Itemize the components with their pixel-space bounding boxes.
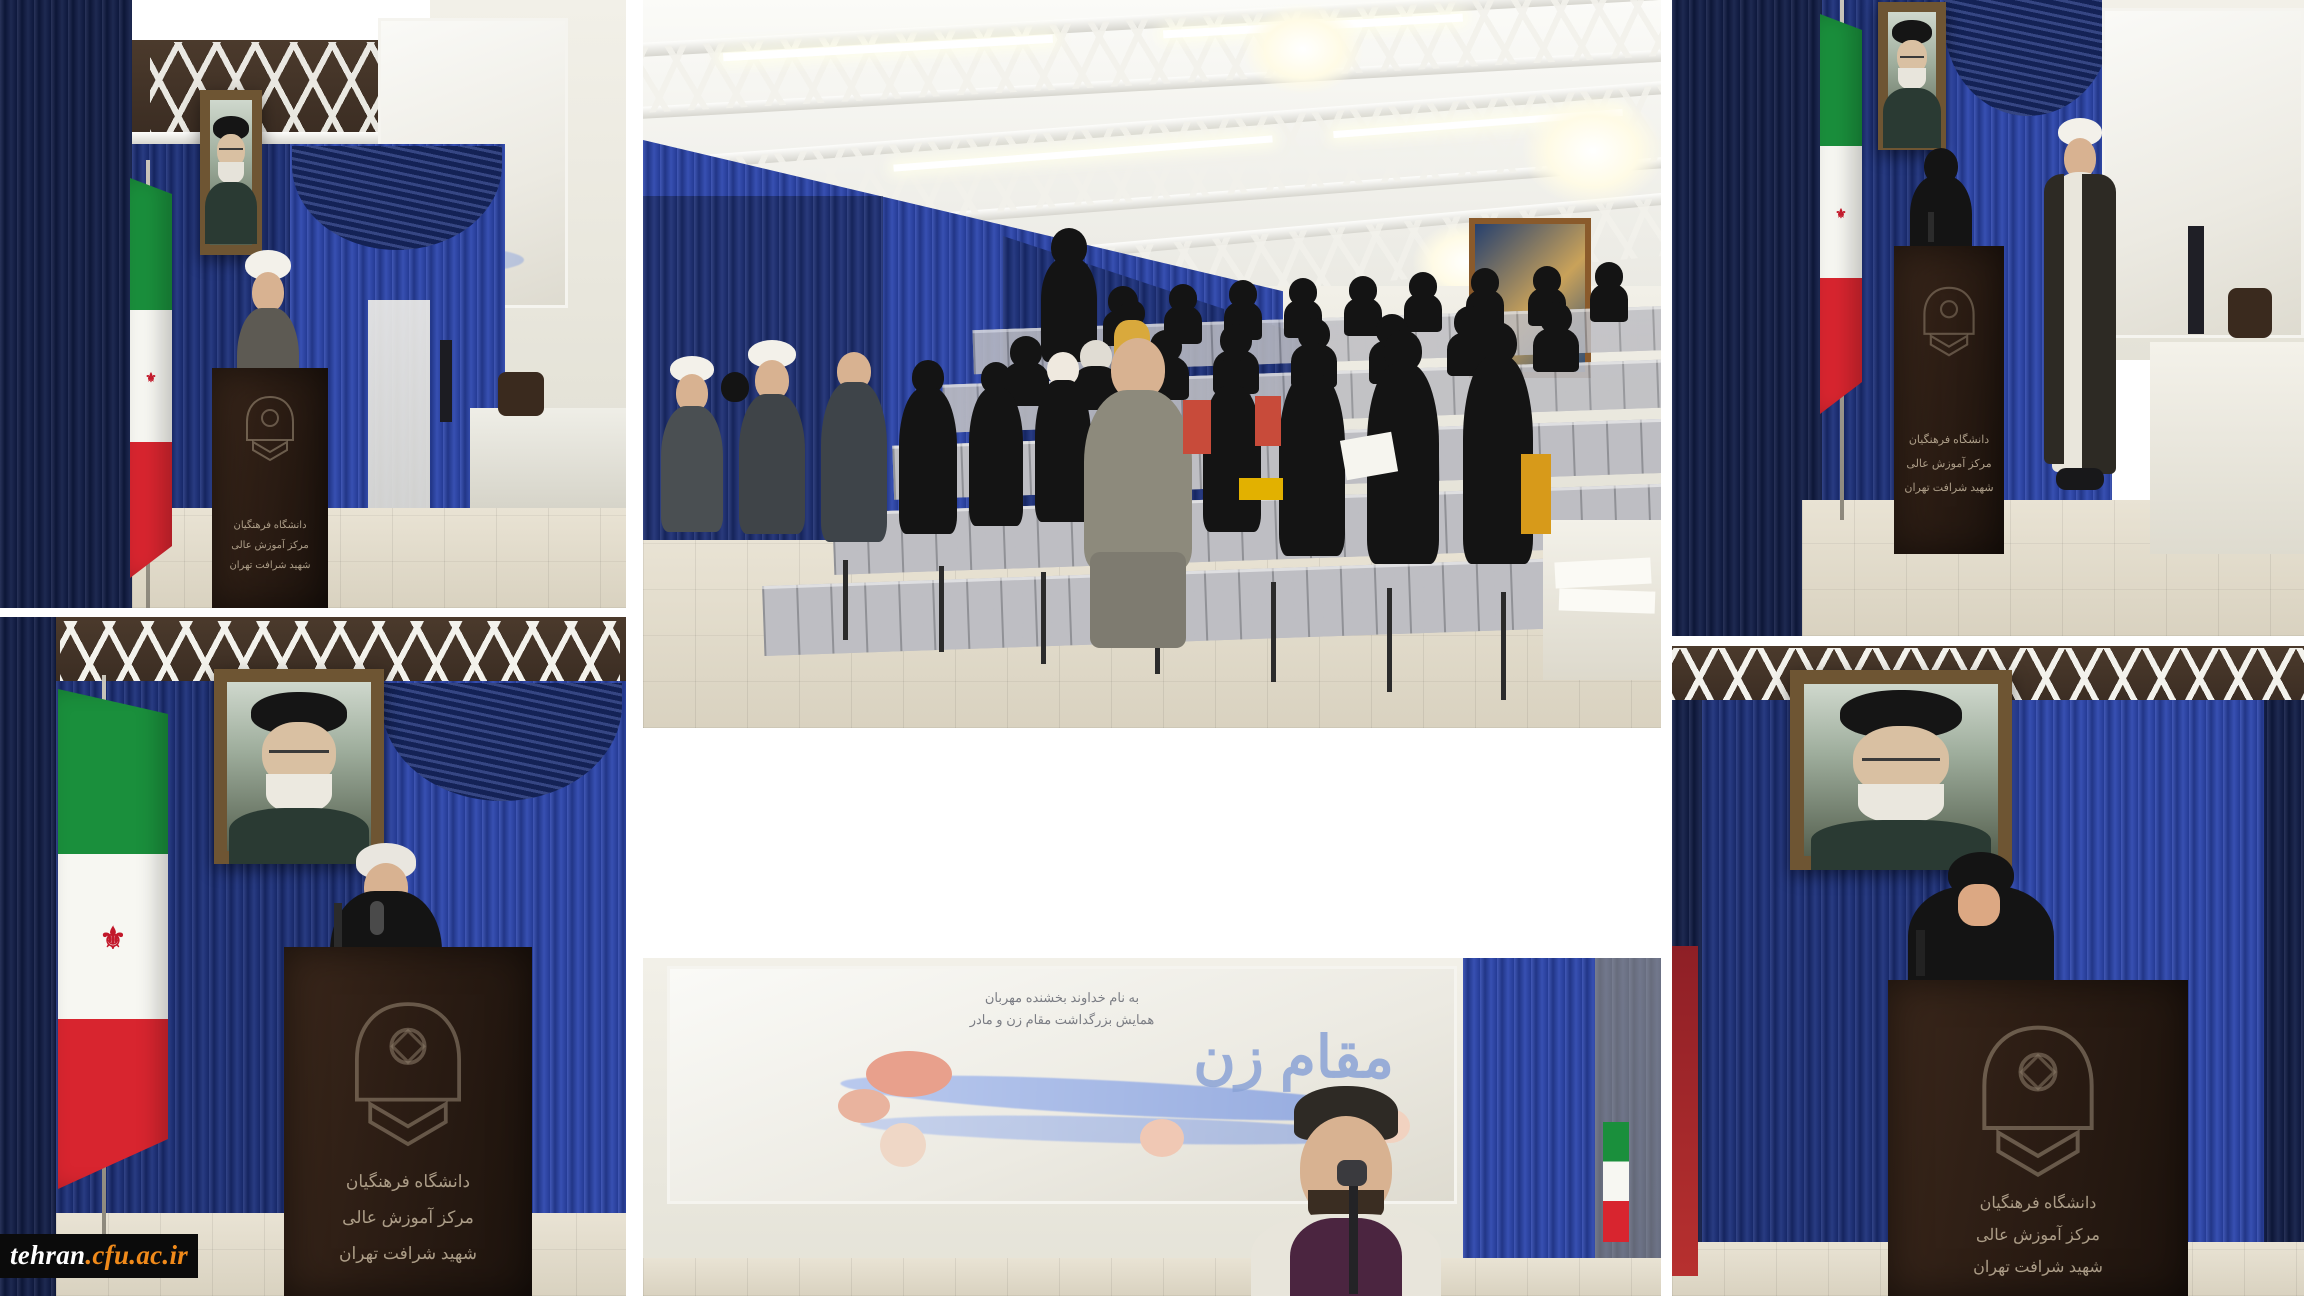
podium: دانشگاه فرهنگیان مرکز آموزش عالی شهید شر… [284, 947, 532, 1296]
site-watermark: tehran.cfu.ac.ir [0, 1234, 198, 1278]
watermark-domain: tehran [10, 1240, 85, 1270]
panel-male-speaker-slide[interactable]: به نام خداوند بخشنده مهربان همایش بزرگدا… [643, 958, 1661, 1296]
audience-man-front [1083, 338, 1193, 638]
university-seal-icon [1918, 282, 1980, 360]
podium-line-1: دانشگاه فرهنگیان [1980, 1192, 2097, 1216]
photo-male-speaker-slide: به نام خداوند بخشنده مهربان همایش بزرگدا… [643, 958, 1661, 1296]
panel-blank-white [643, 737, 1661, 949]
podium-line-1: دانشگاه فرهنگیان [233, 518, 306, 533]
university-seal-icon [1964, 1016, 2112, 1184]
podium-line-2: مرکز آموزش عالی [342, 1205, 474, 1231]
iran-flag: ⚜ [1820, 14, 1862, 414]
photo-cleric-at-podium: ⚜ د [0, 0, 626, 608]
audience-cleric [739, 340, 805, 528]
panel-woman-podium-cleric-standing[interactable]: ⚜ [1672, 0, 2304, 636]
panel-woman-podium-portrait[interactable]: دانشگاه فرهنگیان مرکز آموزش عالی شهید شر… [1672, 646, 2304, 1296]
podium-line-2: مرکز آموزش عالی [1976, 1224, 2100, 1248]
podium-line-2: مرکز آموزش عالی [231, 538, 308, 553]
framed-portrait-of-leader [1878, 2, 1946, 150]
podium-line-1: دانشگاه فرهنگیان [346, 1169, 470, 1195]
podium-line-3: شهید شرافت تهران [339, 1241, 477, 1267]
podium-line-3: شهید شرافت تهران [1973, 1256, 2103, 1280]
podium: دانشگاه فرهنگیان مرکز آموزش عالی شهید شر… [1888, 980, 2188, 1296]
podium-line-3: شهید شرافت تهران [1904, 480, 1993, 497]
slide-title-line-1: به نام خداوند بخشنده مهربان [670, 987, 1454, 1009]
iran-flag: ⚜ [130, 178, 172, 578]
photo-woman-speaker-podium: ⚜ [0, 617, 626, 1296]
podium: دانشگاه فرهنگیان مرکز آموزش عالی شهید شر… [212, 368, 328, 608]
standing-cleric [2044, 118, 2116, 500]
podium: دانشگاه فرهنگیان مرکز آموزش عالی شهید شر… [1894, 246, 2004, 554]
panel-audience-hall[interactable] [643, 0, 1661, 728]
framed-portrait-of-leader [200, 90, 262, 255]
slide-calligraphy: مقام زن [1193, 1023, 1394, 1091]
framed-portrait-of-leader [214, 669, 384, 864]
woman-speaker [1908, 852, 2054, 1000]
panel-woman-speaker-podium[interactable]: ⚜ [0, 617, 626, 1296]
framed-portrait-of-leader [1790, 670, 2012, 870]
photo-woman-podium-cleric-standing: ⚜ [1672, 0, 2304, 636]
podium-line-1: دانشگاه فرهنگیان [1909, 432, 1989, 449]
white-spacer [643, 737, 1661, 949]
audience-cleric [661, 356, 723, 526]
photo-collage: ⚜ د [0, 0, 2304, 1296]
photo-woman-podium-portrait: دانشگاه فرهنگیان مرکز آموزش عالی شهید شر… [1672, 646, 2304, 1296]
podium-line-3: شهید شرافت تهران [229, 558, 310, 573]
iran-flag: ⚜ [58, 689, 168, 1189]
watermark-tld: .cfu.ac.ir [85, 1240, 188, 1270]
podium-line-2: مرکز آموزش عالی [1906, 456, 1991, 473]
university-seal-icon [241, 392, 299, 464]
university-seal-icon [342, 993, 474, 1153]
panel-cleric-at-podium[interactable]: ⚜ د [0, 0, 626, 608]
photo-audience-hall [643, 0, 1661, 728]
male-speaker [1181, 1086, 1511, 1296]
